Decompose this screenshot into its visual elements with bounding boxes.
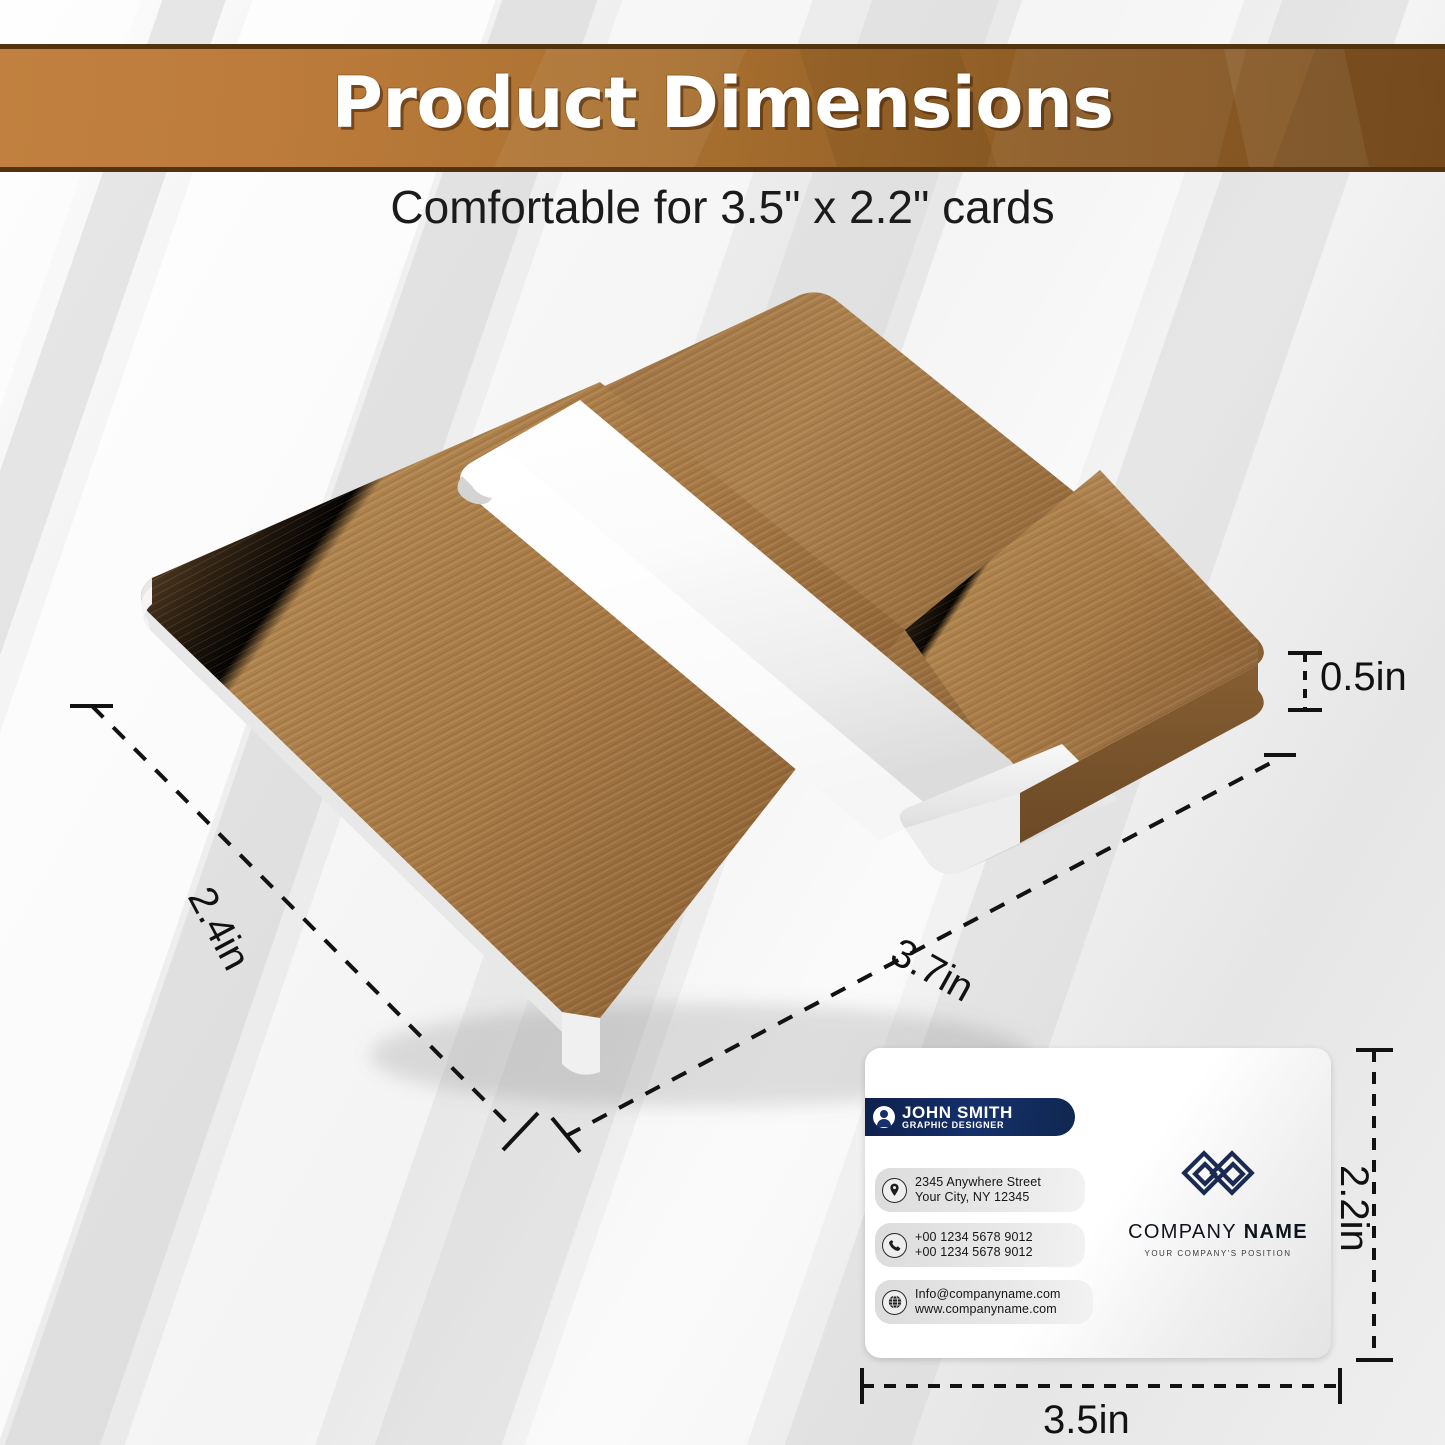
badge-text: JOHN SMITH GRAPHIC DESIGNER <box>902 1104 1013 1131</box>
contact-name: JOHN SMITH <box>902 1104 1013 1122</box>
phone-line-1: +00 1234 5678 9012 <box>915 1230 1033 1245</box>
location-pin-icon <box>882 1178 907 1203</box>
address-line-1: 2345 Anywhere Street <box>915 1175 1041 1190</box>
name-badge: JOHN SMITH GRAPHIC DESIGNER <box>865 1098 1075 1136</box>
infographic-canvas: Product Dimensions Comfortable for 3.5" … <box>0 0 1445 1445</box>
business-card-brand-column: COMPANY NAME YOUR COMPANY'S POSITION <box>1105 1048 1331 1358</box>
card-dimension-label-width: 3.5in <box>1043 1398 1130 1443</box>
business-card: JOHN SMITH GRAPHIC DESIGNER 2345 Anywher… <box>865 1048 1331 1358</box>
globe-icon <box>882 1290 907 1315</box>
company-tagline: YOUR COMPANY'S POSITION <box>1144 1249 1291 1258</box>
website-text: www.companyname.com <box>915 1302 1061 1317</box>
company-logo-icon <box>1179 1148 1257 1215</box>
company-name-part2: NAME <box>1244 1221 1308 1243</box>
phone-icon <box>882 1233 907 1258</box>
person-icon <box>873 1106 895 1128</box>
web-row: Info@companyname.com www.companyname.com <box>875 1280 1093 1324</box>
phone-text: +00 1234 5678 9012 +00 1234 5678 9012 <box>915 1230 1033 1261</box>
web-text: Info@companyname.com www.companyname.com <box>915 1287 1061 1318</box>
phone-line-2: +00 1234 5678 9012 <box>915 1245 1033 1260</box>
dimension-label-height: 0.5in <box>1320 655 1407 700</box>
address-text: 2345 Anywhere Street Your City, NY 12345 <box>915 1175 1041 1206</box>
contact-role: GRAPHIC DESIGNER <box>902 1121 1013 1130</box>
page-title: Product Dimensions <box>0 44 1445 162</box>
address-row: 2345 Anywhere Street Your City, NY 12345 <box>875 1168 1085 1212</box>
phone-row: +00 1234 5678 9012 +00 1234 5678 9012 <box>875 1223 1085 1267</box>
business-card-contact-column: JOHN SMITH GRAPHIC DESIGNER 2345 Anywher… <box>865 1048 1101 1358</box>
email-text: Info@companyname.com <box>915 1287 1061 1302</box>
card-dimension-label-height: 2.2in <box>1331 1165 1376 1252</box>
address-line-2: Your City, NY 12345 <box>915 1190 1041 1205</box>
company-name-part1: COMPANY <box>1128 1221 1237 1243</box>
subtitle: Comfortable for 3.5" x 2.2" cards <box>0 180 1445 234</box>
company-name: COMPANY NAME <box>1128 1221 1308 1244</box>
